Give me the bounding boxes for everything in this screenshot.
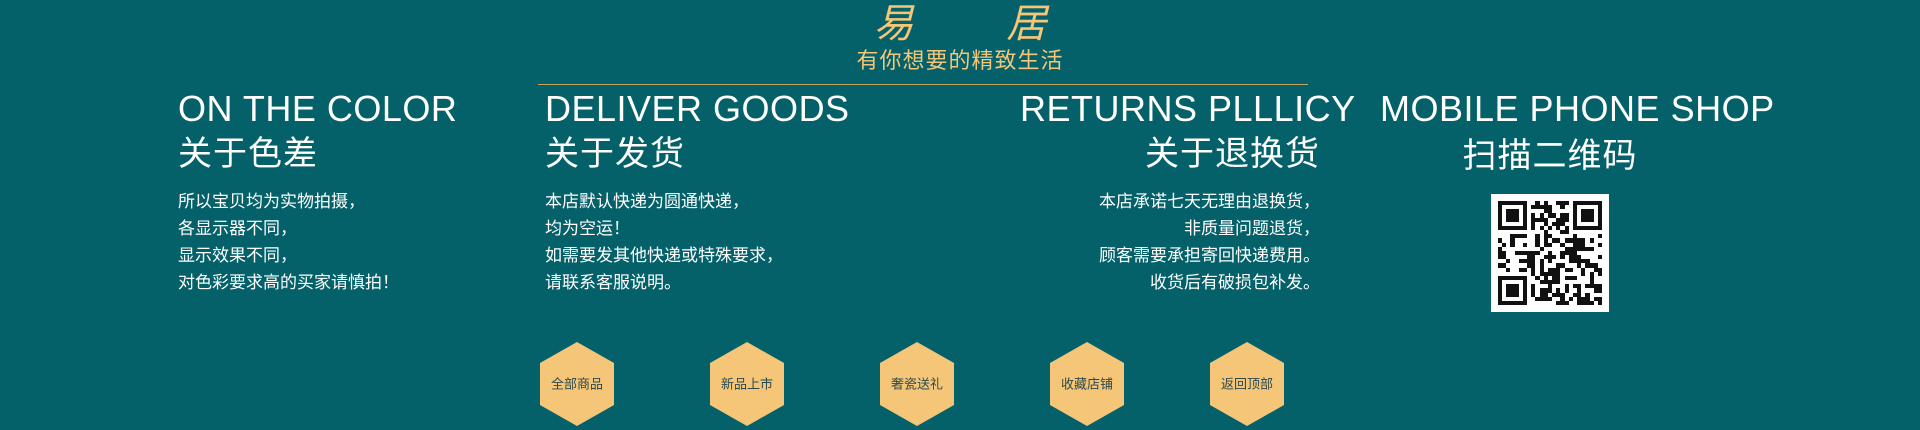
gold-divider xyxy=(538,84,1308,85)
body-line: 各显示器不同， xyxy=(178,215,457,242)
column-body: 本店默认快递为圆通快递， 均为空运！ 如需要发其他快递或特殊要求， 请联系客服说… xyxy=(545,188,850,296)
body-line: 所以宝贝均为实物拍摄， xyxy=(178,188,457,215)
body-line: 均为空运！ xyxy=(545,215,850,242)
hex-button-back-to-top[interactable]: 返回顶部 xyxy=(1210,342,1284,426)
hex-button-favorite-store[interactable]: 收藏店铺 xyxy=(1050,342,1124,426)
hex-button-label: 新品上市 xyxy=(721,377,773,392)
column-title-en: MOBILE PHONE SHOP xyxy=(1380,88,1720,130)
hex-button-label: 返回顶部 xyxy=(1221,377,1273,392)
hex-button-luxury-gift[interactable]: 奢瓷送礼 xyxy=(880,342,954,426)
column-title-en: ON THE COLOR xyxy=(178,88,457,130)
brand-block: 易 居 有你想要的精致生活 xyxy=(760,0,1160,74)
hex-button-label: 奢瓷送礼 xyxy=(891,377,943,392)
brand-logo: 易 居 xyxy=(760,0,1160,46)
column-title-en: RETURNS PLLLICY xyxy=(1020,88,1320,130)
qr-code xyxy=(1491,194,1609,312)
column-title-cn: 关于色差 xyxy=(178,132,457,176)
brand-tagline: 有你想要的精致生活 xyxy=(760,48,1160,74)
qr-code-image xyxy=(1498,201,1602,305)
column-on-the-color: ON THE COLOR 关于色差 所以宝贝均为实物拍摄， 各显示器不同， 显示… xyxy=(178,88,457,296)
body-line: 本店承诺七天无理由退换货， xyxy=(1020,188,1320,215)
body-line: 请联系客服说明。 xyxy=(545,269,850,296)
hex-button-all-products[interactable]: 全部商品 xyxy=(540,342,614,426)
column-deliver-goods: DELIVER GOODS 关于发货 本店默认快递为圆通快递， 均为空运！ 如需… xyxy=(545,88,850,296)
column-returns-policy: RETURNS PLLLICY 关于退换货 本店承诺七天无理由退换货， 非质量问… xyxy=(1020,88,1320,296)
column-body: 本店承诺七天无理由退换货， 非质量问题退货， 顾客需要承担寄回快递费用。 收货后… xyxy=(1020,188,1320,296)
column-title-cn: 扫描二维码 xyxy=(1380,134,1720,178)
body-line: 非质量问题退货， xyxy=(1020,215,1320,242)
column-body: 所以宝贝均为实物拍摄， 各显示器不同， 显示效果不同， 对色彩要求高的买家请慎拍… xyxy=(178,188,457,296)
body-line: 本店默认快递为圆通快递， xyxy=(545,188,850,215)
hex-button-label: 全部商品 xyxy=(551,377,603,392)
column-mobile-phone-shop: MOBILE PHONE SHOP 扫描二维码 xyxy=(1380,88,1720,312)
column-title-cn: 关于退换货 xyxy=(1020,132,1320,176)
body-line: 如需要发其他快递或特殊要求， xyxy=(545,242,850,269)
hex-nav: 全部商品 新品上市 奢瓷送礼 收藏店铺 返回顶部 xyxy=(540,342,1340,430)
body-line: 收货后有破损包补发。 xyxy=(1020,269,1320,296)
column-title-en: DELIVER GOODS xyxy=(545,88,850,130)
hex-button-new-arrivals[interactable]: 新品上市 xyxy=(710,342,784,426)
store-footer: 易 居 有你想要的精致生活 ON THE COLOR 关于色差 所以宝贝均为实物… xyxy=(0,0,1920,430)
body-line: 对色彩要求高的买家请慎拍！ xyxy=(178,269,457,296)
column-title-cn: 关于发货 xyxy=(545,132,850,176)
body-line: 顾客需要承担寄回快递费用。 xyxy=(1020,242,1320,269)
hex-button-label: 收藏店铺 xyxy=(1061,377,1113,392)
body-line: 显示效果不同， xyxy=(178,242,457,269)
